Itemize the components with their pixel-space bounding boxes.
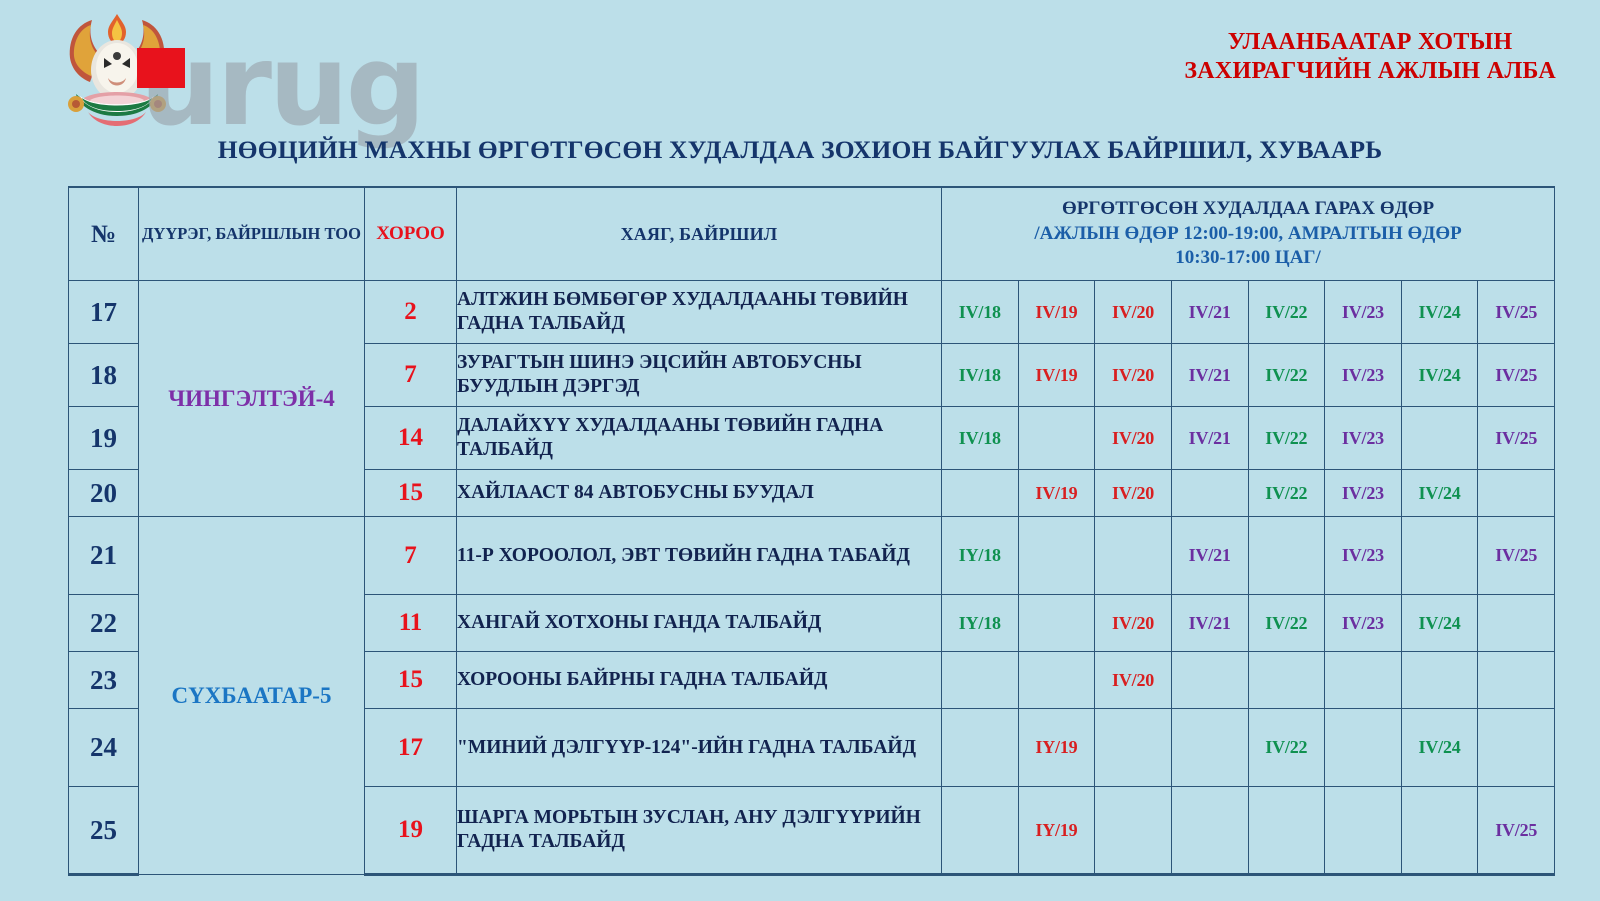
organization-title: УЛААНБААТАР ХОТЫН ЗАХИРАГЧИЙН АЖЛЫН АЛБА bbox=[1184, 28, 1556, 87]
date-cell-active: IV/20 bbox=[1095, 652, 1172, 709]
date-cell-active: IV/24 bbox=[1401, 281, 1478, 344]
row-number: 25 bbox=[69, 787, 139, 875]
date-cell-active: IV/21 bbox=[1171, 595, 1248, 652]
row-number: 17 bbox=[69, 281, 139, 344]
date-cell-active: IV/21 bbox=[1171, 407, 1248, 470]
date-cell-empty bbox=[1248, 517, 1325, 595]
column-header-dates: ӨРГӨТГӨСӨН ХУДАЛДАА ГАРАХ ӨДӨР /АЖЛЫН ӨД… bbox=[942, 187, 1555, 281]
date-cell-active: IV/19 bbox=[1018, 470, 1095, 517]
date-cell-active: IV/20 bbox=[1095, 407, 1172, 470]
row-number: 20 bbox=[69, 470, 139, 517]
date-cell-empty bbox=[1018, 517, 1095, 595]
address-text: ШАРГА МОРЬТЫН ЗУСЛАН, АНУ ДЭЛГҮҮРИЙН ГАД… bbox=[457, 787, 942, 875]
date-cell-empty bbox=[1401, 652, 1478, 709]
date-cell-active: IV/25 bbox=[1478, 787, 1555, 875]
date-cell-empty bbox=[1478, 709, 1555, 787]
date-cell-empty bbox=[1018, 652, 1095, 709]
address-text: ХОРООНЫ БАЙРНЫ ГАДНА ТАЛБАЙД bbox=[457, 652, 942, 709]
date-cell-active: IV/20 bbox=[1095, 595, 1172, 652]
date-cell-empty bbox=[1401, 407, 1478, 470]
date-cell-active: IV/20 bbox=[1095, 281, 1172, 344]
row-number: 19 bbox=[69, 407, 139, 470]
row-number: 18 bbox=[69, 344, 139, 407]
date-cell-empty bbox=[1171, 787, 1248, 875]
dates-header-line3: 10:30-17:00 ЦАГ/ bbox=[942, 246, 1554, 271]
date-cell-active: IV/24 bbox=[1401, 709, 1478, 787]
date-cell-active: IV/24 bbox=[1401, 470, 1478, 517]
date-cell-empty bbox=[1478, 595, 1555, 652]
date-cell-empty bbox=[1248, 652, 1325, 709]
date-cell-active: IY/18 bbox=[942, 595, 1019, 652]
column-header-no: № bbox=[69, 187, 139, 281]
organization-title-line1: УЛААНБААТАР ХОТЫН bbox=[1184, 28, 1556, 57]
row-number: 24 bbox=[69, 709, 139, 787]
khoroo-number: 19 bbox=[365, 787, 457, 875]
date-cell-empty bbox=[1018, 595, 1095, 652]
date-cell-empty bbox=[1325, 787, 1402, 875]
date-cell-active: IV/22 bbox=[1248, 709, 1325, 787]
khoroo-number: 7 bbox=[365, 517, 457, 595]
date-cell-empty bbox=[1478, 652, 1555, 709]
date-cell-empty bbox=[1018, 407, 1095, 470]
date-cell-active: IV/19 bbox=[1018, 281, 1095, 344]
date-cell-active: IY/19 bbox=[1018, 709, 1095, 787]
table-body: 17ЧИНГЭЛТЭЙ-42АЛТЖИН БӨМБӨГӨР ХУДАЛДААНЫ… bbox=[69, 281, 1555, 875]
date-cell-active: IV/22 bbox=[1248, 281, 1325, 344]
address-text: ХАНГАЙ ХОТХОНЫ ГАНДА ТАЛБАЙД bbox=[457, 595, 942, 652]
address-text: ДАЛАЙХҮҮ ХУДАЛДААНЫ ТӨВИЙН ГАДНА ТАЛБАЙД bbox=[457, 407, 942, 470]
organization-title-line2: ЗАХИРАГЧИЙН АЖЛЫН АЛБА bbox=[1184, 57, 1556, 86]
page-header: urug УЛААНБААТАР ХОТЫН ЗАХИРАГЧИЙН АЖЛЫН… bbox=[0, 0, 1600, 128]
address-text: ХАЙЛААСТ 84 АВТОБУСНЫ БУУДАЛ bbox=[457, 470, 942, 517]
date-cell-active: IV/23 bbox=[1325, 281, 1402, 344]
table-row: 21СҮХБААТАР-5711-Р ХОРООЛОЛ, ЭВТ ТӨВИЙН … bbox=[69, 517, 1555, 595]
address-text: АЛТЖИН БӨМБӨГӨР ХУДАЛДААНЫ ТӨВИЙН ГАДНА … bbox=[457, 281, 942, 344]
date-cell-active: IV/22 bbox=[1248, 344, 1325, 407]
date-cell-empty bbox=[1095, 517, 1172, 595]
date-cell-active: IV/21 bbox=[1171, 517, 1248, 595]
khoroo-number: 7 bbox=[365, 344, 457, 407]
khoroo-number: 11 bbox=[365, 595, 457, 652]
table-header-row: № ДҮҮРЭГ, БАЙРШЛЫН ТОО ХОРОО ХАЯГ, БАЙРШ… bbox=[69, 187, 1555, 281]
date-cell-active: IV/25 bbox=[1478, 344, 1555, 407]
date-cell-active: IY/18 bbox=[942, 517, 1019, 595]
date-cell-active: IV/22 bbox=[1248, 470, 1325, 517]
date-cell-empty bbox=[1171, 470, 1248, 517]
row-number: 21 bbox=[69, 517, 139, 595]
khoroo-number: 15 bbox=[365, 652, 457, 709]
date-cell-active: IV/25 bbox=[1478, 517, 1555, 595]
khoroo-number: 17 bbox=[365, 709, 457, 787]
date-cell-active: IV/23 bbox=[1325, 517, 1402, 595]
date-cell-empty bbox=[942, 652, 1019, 709]
date-cell-active: IV/21 bbox=[1171, 344, 1248, 407]
date-cell-active: IV/19 bbox=[1018, 344, 1095, 407]
date-cell-active: IV/20 bbox=[1095, 344, 1172, 407]
date-cell-active: IV/18 bbox=[942, 281, 1019, 344]
date-cell-active: IY/19 bbox=[1018, 787, 1095, 875]
address-text: 11-Р ХОРООЛОЛ, ЭВТ ТӨВИЙН ГАДНА ТАБАЙД bbox=[457, 517, 942, 595]
date-cell-empty bbox=[1325, 652, 1402, 709]
date-cell-empty bbox=[1325, 709, 1402, 787]
table-head: № ДҮҮРЭГ, БАЙРШЛЫН ТОО ХОРОО ХАЯГ, БАЙРШ… bbox=[69, 187, 1555, 281]
dates-header-line2: /АЖЛЫН ӨДӨР 12:00-19:00, АМРАЛТЫН ӨДӨР bbox=[942, 222, 1554, 247]
date-cell-active: IV/25 bbox=[1478, 407, 1555, 470]
khoroo-number: 14 bbox=[365, 407, 457, 470]
date-cell-active: IV/24 bbox=[1401, 595, 1478, 652]
date-cell-empty bbox=[1171, 652, 1248, 709]
document-title: НӨӨЦИЙН МАХНЫ ӨРГӨТГӨСӨН ХУДАЛДАА ЗОХИОН… bbox=[0, 135, 1600, 165]
date-cell-active: IV/18 bbox=[942, 407, 1019, 470]
date-cell-active: IV/25 bbox=[1478, 281, 1555, 344]
address-text: ЗУРАГТЫН ШИНЭ ЭЦСИЙН АВТОБУСНЫ БУУДЛЫН Д… bbox=[457, 344, 942, 407]
date-cell-empty bbox=[1401, 787, 1478, 875]
dates-header-line1: ӨРГӨТГӨСӨН ХУДАЛДАА ГАРАХ ӨДӨР bbox=[942, 197, 1554, 222]
date-cell-active: IV/23 bbox=[1325, 470, 1402, 517]
column-header-address: ХАЯГ, БАЙРШИЛ bbox=[457, 187, 942, 281]
date-cell-empty bbox=[1401, 517, 1478, 595]
table-row: 17ЧИНГЭЛТЭЙ-42АЛТЖИН БӨМБӨГӨР ХУДАЛДААНЫ… bbox=[69, 281, 1555, 344]
date-cell-empty bbox=[1171, 709, 1248, 787]
date-cell-empty bbox=[1248, 787, 1325, 875]
date-cell-active: IV/22 bbox=[1248, 407, 1325, 470]
row-number: 22 bbox=[69, 595, 139, 652]
date-cell-active: IV/18 bbox=[942, 344, 1019, 407]
date-cell-active: IV/20 bbox=[1095, 470, 1172, 517]
address-text: "МИНИЙ ДЭЛГҮҮР-124"-ИЙН ГАДНА ТАЛБАЙД bbox=[457, 709, 942, 787]
date-cell-active: IV/23 bbox=[1325, 344, 1402, 407]
date-cell-empty bbox=[942, 470, 1019, 517]
date-cell-empty bbox=[942, 709, 1019, 787]
date-cell-active: IV/23 bbox=[1325, 407, 1402, 470]
date-cell-empty bbox=[1095, 787, 1172, 875]
date-cell-active: IV/24 bbox=[1401, 344, 1478, 407]
khoroo-number: 2 bbox=[365, 281, 457, 344]
date-cell-empty bbox=[942, 787, 1019, 875]
watermark-red-square-icon bbox=[137, 48, 185, 88]
khoroo-number: 15 bbox=[365, 470, 457, 517]
date-cell-empty bbox=[1478, 470, 1555, 517]
district-name: СҮХБААТАР-5 bbox=[139, 517, 365, 875]
row-number: 23 bbox=[69, 652, 139, 709]
schedule-table: № ДҮҮРЭГ, БАЙРШЛЫН ТОО ХОРОО ХАЯГ, БАЙРШ… bbox=[68, 186, 1555, 876]
date-cell-active: IV/22 bbox=[1248, 595, 1325, 652]
district-name: ЧИНГЭЛТЭЙ-4 bbox=[139, 281, 365, 517]
date-cell-active: IV/23 bbox=[1325, 595, 1402, 652]
column-header-khoroo: ХОРОО bbox=[365, 187, 457, 281]
column-header-district: ДҮҮРЭГ, БАЙРШЛЫН ТОО bbox=[139, 187, 365, 281]
date-cell-empty bbox=[1095, 709, 1172, 787]
date-cell-active: IV/21 bbox=[1171, 281, 1248, 344]
